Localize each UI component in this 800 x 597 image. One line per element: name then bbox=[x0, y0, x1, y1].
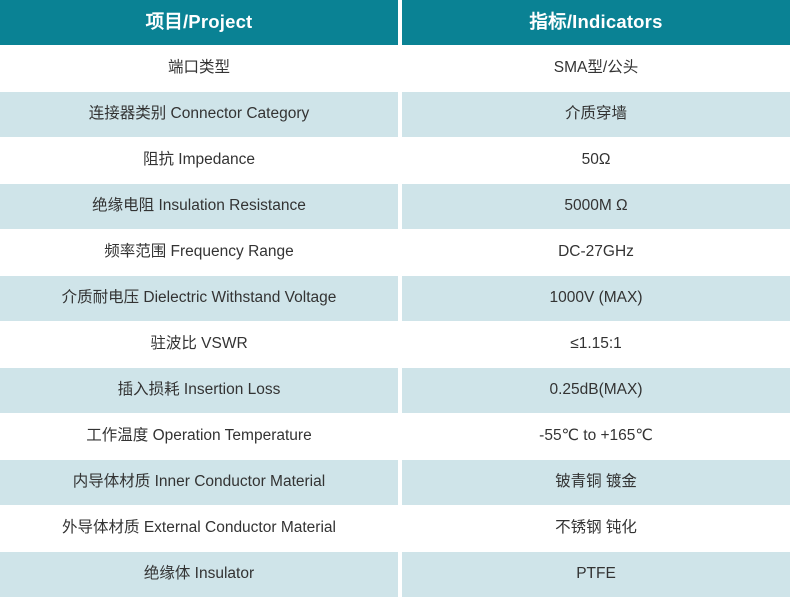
table-row: 插入损耗 Insertion Loss 0.25dB(MAX) bbox=[0, 368, 790, 413]
table-row: 绝缘电阻 Insulation Resistance 5000M Ω bbox=[0, 184, 790, 229]
cell-project: 阻抗 Impedance bbox=[0, 138, 398, 183]
table-header-row: 项目/Project 指标/Indicators bbox=[0, 0, 790, 45]
cell-project: 频率范围 Frequency Range bbox=[0, 230, 398, 275]
cell-indicator: 5000M Ω bbox=[402, 184, 790, 229]
cell-project: 工作温度 Operation Temperature bbox=[0, 414, 398, 459]
cell-project: 介质耐电压 Dielectric Withstand Voltage bbox=[0, 276, 398, 321]
table-row: 绝缘体 Insulator PTFE bbox=[0, 552, 790, 597]
table-row: 内导体材质 Inner Conductor Material 铍青铜 镀金 bbox=[0, 460, 790, 505]
table-row: 工作温度 Operation Temperature -55℃ to +165℃ bbox=[0, 414, 790, 459]
specification-table: 项目/Project 指标/Indicators 端口类型 SMA型/公头 连接… bbox=[0, 0, 800, 588]
cell-project: 内导体材质 Inner Conductor Material bbox=[0, 460, 398, 505]
table-row: 外导体材质 External Conductor Material 不锈钢 钝化 bbox=[0, 506, 790, 551]
cell-indicator: 0.25dB(MAX) bbox=[402, 368, 790, 413]
table-row: 端口类型 SMA型/公头 bbox=[0, 46, 790, 91]
cell-indicator: SMA型/公头 bbox=[402, 46, 790, 91]
cell-indicator: PTFE bbox=[402, 552, 790, 597]
cell-project: 绝缘电阻 Insulation Resistance bbox=[0, 184, 398, 229]
cell-indicator: 50Ω bbox=[402, 138, 790, 183]
cell-project: 驻波比 VSWR bbox=[0, 322, 398, 367]
column-header-indicators: 指标/Indicators bbox=[402, 0, 790, 45]
cell-indicator: 不锈钢 钝化 bbox=[402, 506, 790, 551]
cell-indicator: DC-27GHz bbox=[402, 230, 790, 275]
cell-indicator: ≤1.15:1 bbox=[402, 322, 790, 367]
table-row: 驻波比 VSWR ≤1.15:1 bbox=[0, 322, 790, 367]
cell-indicator: 1000V (MAX) bbox=[402, 276, 790, 321]
cell-project: 绝缘体 Insulator bbox=[0, 552, 398, 597]
cell-indicator: 介质穿墙 bbox=[402, 92, 790, 137]
column-header-project: 项目/Project bbox=[0, 0, 398, 45]
table-row: 阻抗 Impedance 50Ω bbox=[0, 138, 790, 183]
cell-project: 插入损耗 Insertion Loss bbox=[0, 368, 398, 413]
table-row: 频率范围 Frequency Range DC-27GHz bbox=[0, 230, 790, 275]
cell-project: 连接器类别 Connector Category bbox=[0, 92, 398, 137]
cell-indicator: 铍青铜 镀金 bbox=[402, 460, 790, 505]
cell-project: 外导体材质 External Conductor Material bbox=[0, 506, 398, 551]
table-row: 连接器类别 Connector Category 介质穿墙 bbox=[0, 92, 790, 137]
cell-indicator: -55℃ to +165℃ bbox=[402, 414, 790, 459]
table-row: 介质耐电压 Dielectric Withstand Voltage 1000V… bbox=[0, 276, 790, 321]
cell-project: 端口类型 bbox=[0, 46, 398, 91]
